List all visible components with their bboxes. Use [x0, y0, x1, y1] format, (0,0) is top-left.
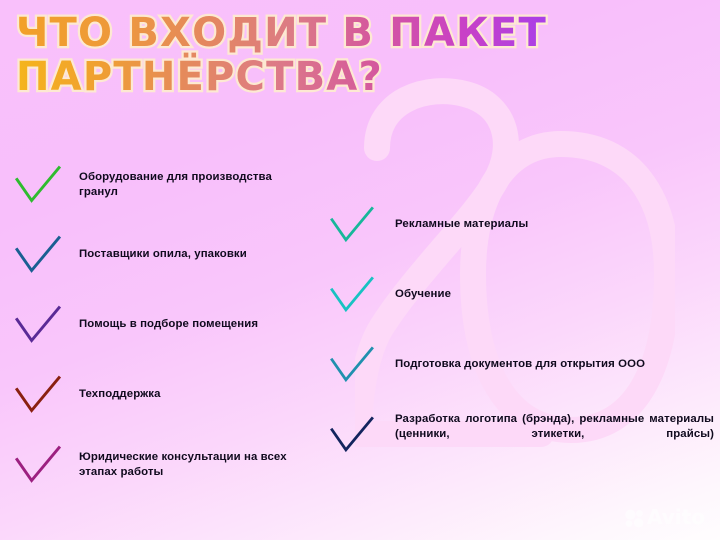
- check-icon: [14, 374, 62, 416]
- page-title: ЧТО ВХОДИТ В ПАКЕТ ПАРТНЁРСТВА?: [16, 8, 636, 100]
- feature-label: Рекламные материалы: [395, 217, 714, 232]
- title-line-1: ЧТО ВХОДИТ В ПАКЕТ: [16, 10, 547, 56]
- feature-label: Помощь в подборе помещения: [79, 317, 305, 332]
- avito-wordmark: Avito: [647, 506, 709, 530]
- title-line-2: ПАРТНЁРСТВА?: [16, 52, 383, 100]
- right-feature-list: Рекламные материалыОбучениеПодготовка до…: [329, 190, 714, 470]
- title-artwork: ЧТО ВХОДИТ В ПАКЕТ ПАРТНЁРСТВА?: [16, 8, 636, 100]
- slide-canvas: ЧТО ВХОДИТ В ПАКЕТ ПАРТНЁРСТВА? Оборудов…: [0, 0, 720, 540]
- check-icon: [14, 304, 62, 346]
- feature-row: Оборудование для производства гранул: [14, 150, 324, 220]
- feature-label: Подготовка документов для открытия ООО: [395, 357, 714, 372]
- feature-row: Помощь в подборе помещения: [14, 290, 324, 360]
- feature-row: Разработка логотипа (брэнда), рекламные …: [329, 400, 714, 470]
- check-icon: [329, 205, 375, 245]
- check-icon: [14, 234, 62, 276]
- feature-label: Разработка логотипа (брэнда), рекламные …: [395, 412, 714, 457]
- check-icon: [329, 415, 375, 455]
- check-icon: [14, 444, 62, 486]
- feature-label: Техподдержка: [79, 387, 305, 402]
- feature-label: Оборудование для производства гранул: [79, 170, 305, 200]
- feature-row: Юридические консультации на всех этапах …: [14, 430, 324, 500]
- avito-label: Avito: [647, 506, 705, 529]
- left-feature-list: Оборудование для производства гранулПост…: [14, 150, 324, 500]
- feature-row: Обучение: [329, 260, 714, 330]
- feature-label: Поставщики опила, упаковки: [79, 247, 305, 262]
- feature-row: Поставщики опила, упаковки: [14, 220, 324, 290]
- feature-row: Подготовка документов для открытия ООО: [329, 330, 714, 400]
- feature-row: Рекламные материалы: [329, 190, 714, 260]
- check-icon: [329, 275, 375, 315]
- check-icon: [329, 345, 375, 385]
- feature-label: Юридические консультации на всех этапах …: [79, 450, 305, 480]
- feature-row: Техподдержка: [14, 360, 324, 430]
- feature-label: Обучение: [395, 287, 714, 302]
- avito-watermark: Avito: [625, 506, 709, 530]
- avito-dots-icon: [625, 509, 644, 528]
- check-icon: [14, 164, 62, 206]
